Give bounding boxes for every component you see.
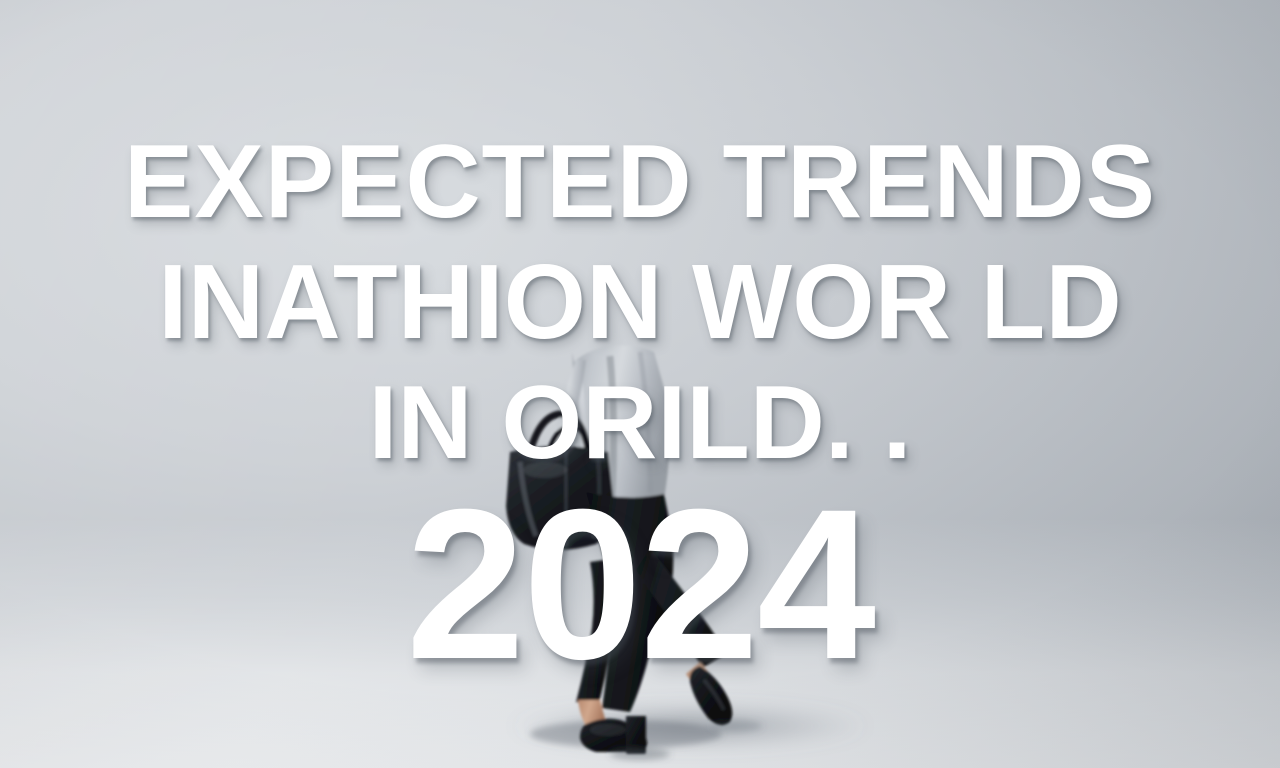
headline-line-2: INATHION WOR LD	[0, 249, 1280, 355]
year-text: 2024	[0, 478, 1280, 692]
poster-canvas: EXPECTED TRENDS INATHION WOR LD IN ORILD…	[0, 0, 1280, 768]
headline-line-3: IN ORILD. .	[0, 371, 1280, 475]
headline-line-1: EXPECTED TRENDS	[0, 130, 1280, 234]
